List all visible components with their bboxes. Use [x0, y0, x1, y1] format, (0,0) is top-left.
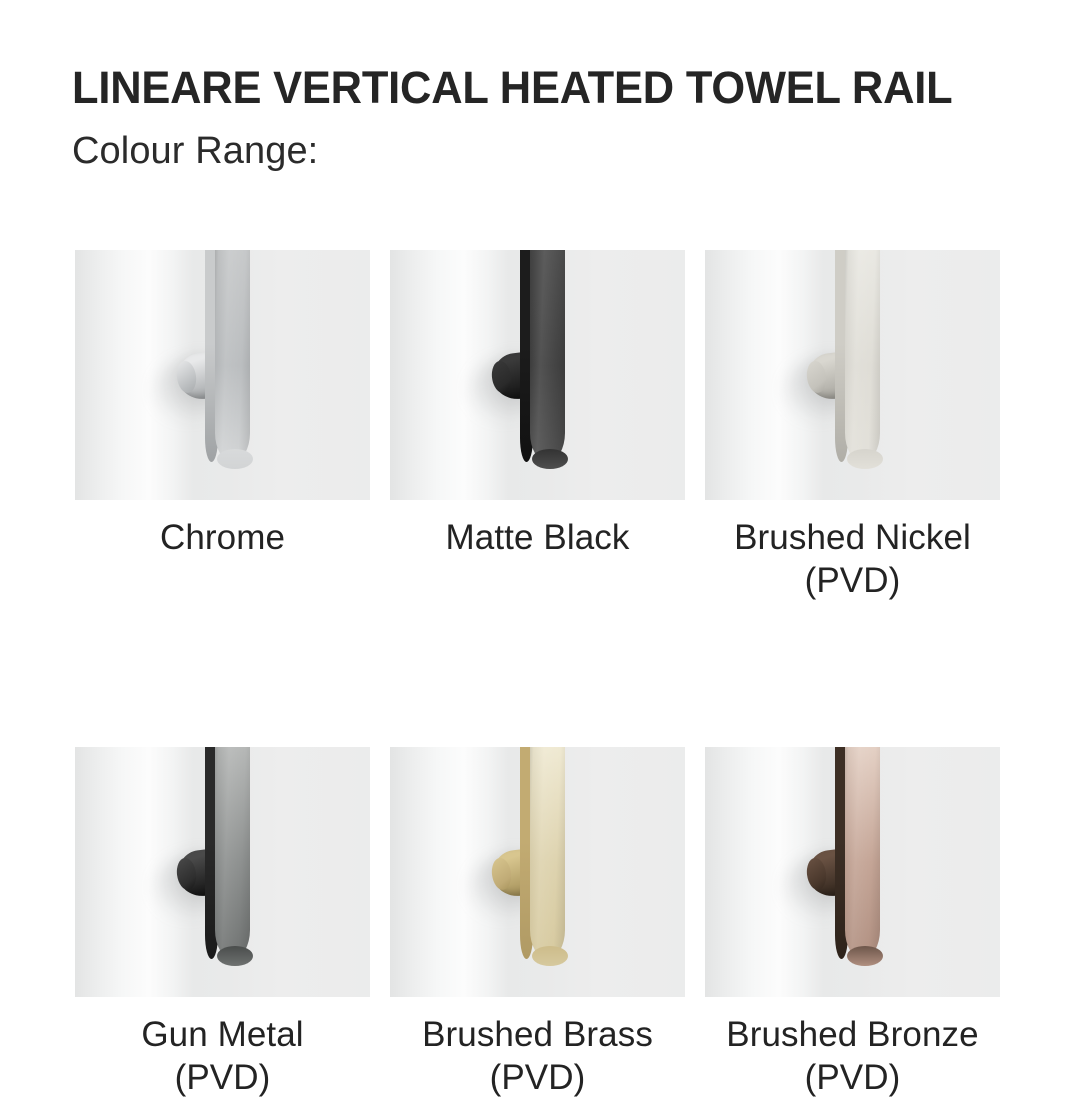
swatch-cell-gun-metal[interactable]: Gun Metal (PVD): [75, 747, 370, 1099]
page-title: LINEARE VERTICAL HEATED TOWEL RAIL: [72, 62, 998, 114]
rail-bottom-cap: [532, 449, 568, 469]
swatch-caption: Brushed Brass (PVD): [390, 1013, 685, 1099]
swatch-label: Brushed Nickel: [734, 518, 971, 557]
rail-front-face: [530, 250, 565, 462]
towel-rail: [835, 250, 880, 462]
bracket-end-cap: [175, 857, 198, 891]
swatch-label: Chrome: [160, 518, 285, 557]
swatch-finish-note: (PVD): [705, 559, 1000, 602]
swatch-image-brushed-bronze[interactable]: [705, 747, 1000, 997]
towel-rail: [520, 747, 565, 959]
rail-bottom-cap: [847, 449, 883, 469]
swatch-label: Brushed Bronze: [726, 1015, 978, 1054]
rail-front-face: [215, 250, 250, 462]
swatch-caption: Chrome: [75, 516, 370, 559]
swatch-cell-brushed-nickel[interactable]: Brushed Nickel (PVD): [705, 250, 1000, 602]
towel-rail: [835, 747, 880, 959]
bracket-end-cap: [175, 360, 198, 394]
rail-front-face: [845, 250, 880, 462]
product-colour-range-page: LINEARE VERTICAL HEATED TOWEL RAIL Colou…: [0, 0, 1080, 1080]
swatch-label: Matte Black: [446, 518, 630, 557]
swatch-image-gun-metal[interactable]: [75, 747, 370, 997]
rail-front-face: [845, 747, 880, 959]
bracket-end-cap: [805, 360, 828, 394]
swatch-caption: Brushed Nickel (PVD): [705, 516, 1000, 602]
swatch-caption: Gun Metal (PVD): [75, 1013, 370, 1099]
colour-range-subtitle: Colour Range:: [72, 128, 1032, 174]
rail-bottom-cap: [532, 946, 568, 966]
swatch-image-brushed-brass[interactable]: [390, 747, 685, 997]
swatch-caption: Brushed Bronze (PVD): [705, 1013, 1000, 1099]
rail-bottom-cap: [217, 946, 253, 966]
swatch-finish-note: (PVD): [390, 1056, 685, 1099]
bracket-end-cap: [490, 857, 513, 891]
swatch-caption: Matte Black: [390, 516, 685, 559]
towel-rail: [205, 747, 250, 959]
bracket-end-cap: [490, 360, 513, 394]
swatch-finish-note: (PVD): [75, 1056, 370, 1099]
swatch-finish-note: (PVD): [705, 1056, 1000, 1099]
rail-bottom-cap: [217, 449, 253, 469]
towel-rail: [520, 250, 565, 462]
rail-front-face: [530, 747, 565, 959]
swatch-cell-brushed-brass[interactable]: Brushed Brass (PVD): [390, 747, 685, 1099]
rail-front-face: [215, 747, 250, 959]
header: LINEARE VERTICAL HEATED TOWEL RAIL Colou…: [72, 62, 1032, 174]
swatch-image-matte-black[interactable]: [390, 250, 685, 500]
swatch-image-chrome[interactable]: [75, 250, 370, 500]
swatch-image-brushed-nickel[interactable]: [705, 250, 1000, 500]
swatch-cell-matte-black[interactable]: Matte Black: [390, 250, 685, 602]
swatch-cell-brushed-bronze[interactable]: Brushed Bronze (PVD): [705, 747, 1000, 1099]
swatch-label: Brushed Brass: [422, 1015, 653, 1054]
swatch-label: Gun Metal: [141, 1015, 303, 1054]
colour-swatch-grid: Chrome Matte Black: [75, 250, 1005, 1099]
swatch-cell-chrome[interactable]: Chrome: [75, 250, 370, 602]
rail-bottom-cap: [847, 946, 883, 966]
towel-rail: [205, 250, 250, 462]
bracket-end-cap: [805, 857, 828, 891]
